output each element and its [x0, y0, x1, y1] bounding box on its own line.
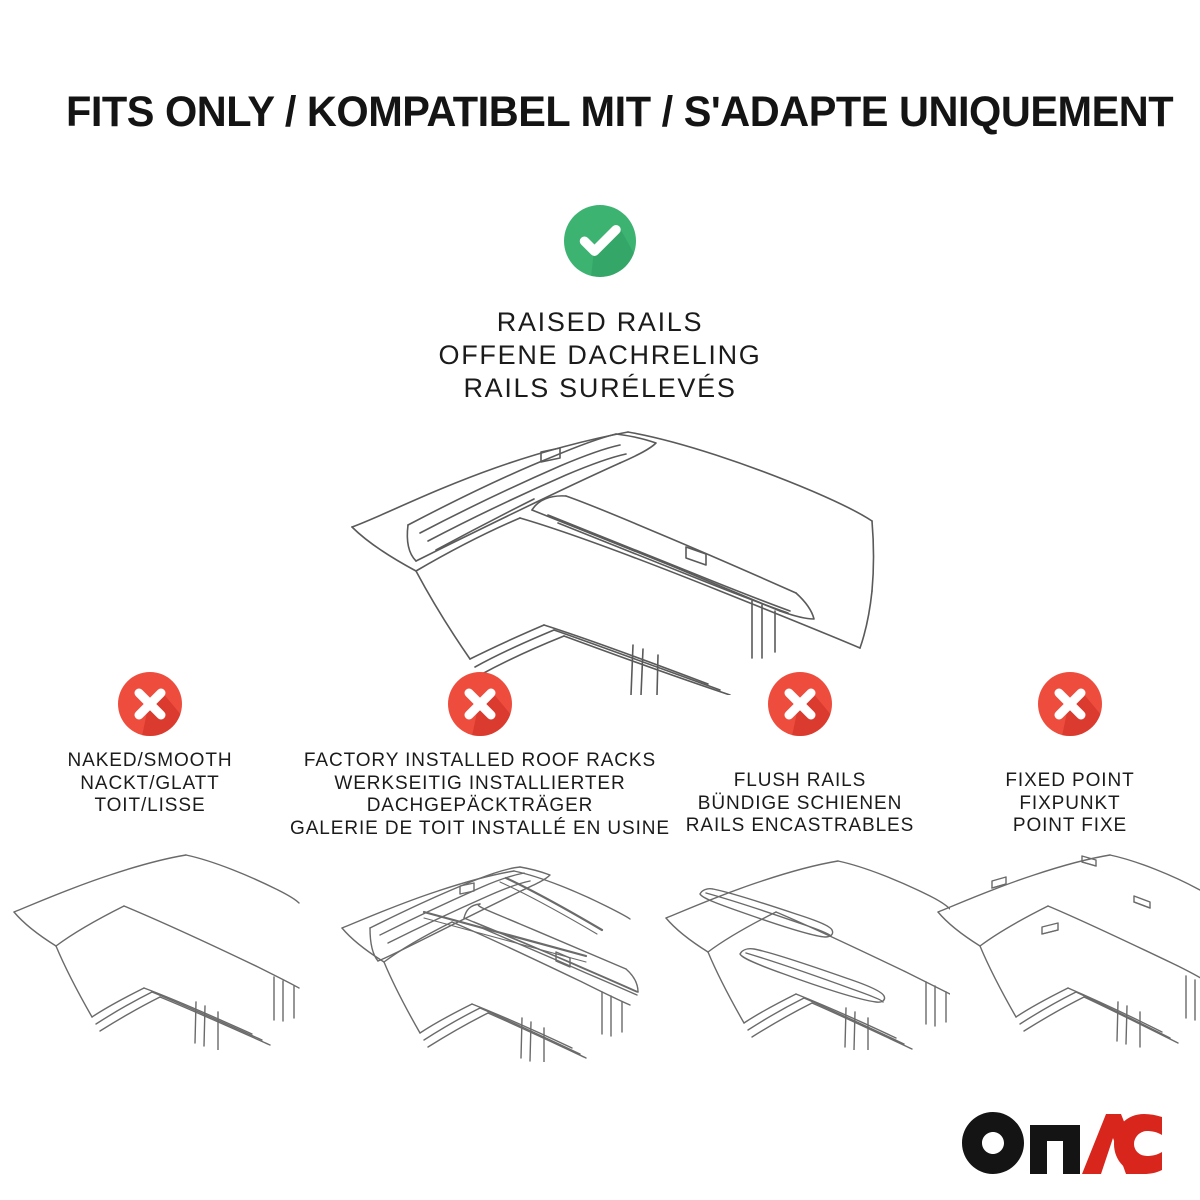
omac-logo — [962, 1112, 1162, 1174]
car-roof-naked-smooth-illustration — [0, 840, 300, 1055]
check-circle-icon — [564, 205, 636, 277]
x-circle-icon — [118, 672, 182, 736]
car-roof-flush-rails-illustration — [650, 850, 950, 1055]
caption-line: WERKSEITIG INSTALLIERTER — [290, 773, 670, 796]
compatible-section: RAISED RAILS OFFENE DACHRELING RAILS SUR… — [0, 205, 1200, 405]
caption-line: GALERIE DE TOIT INSTALLÉ EN USINE — [290, 818, 670, 841]
incompatible-caption: FACTORY INSTALLED ROOF RACKS WERKSEITIG … — [290, 750, 670, 840]
x-circle-icon — [448, 672, 512, 736]
caption-line: DACHGEPÄCKTRÄGER — [290, 795, 670, 818]
caption-line: FIXPUNKT — [1005, 793, 1134, 816]
x-circle-icon — [1038, 672, 1102, 736]
incompatible-section: NAKED/SMOOTH NACKT/GLATT TOIT/LISSE — [0, 672, 1200, 840]
x-circle-icon — [768, 672, 832, 736]
incompatible-item-fixed-point: FIXED POINT FIXPUNKT POINT FIXE — [940, 672, 1200, 838]
incompatible-item-flush-rails: FLUSH RAILS BÜNDIGE SCHIENEN RAILS ENCAS… — [660, 672, 940, 838]
caption-line: RAILS SURÉLEVÉS — [0, 372, 1200, 405]
caption-line: FIXED POINT — [1005, 770, 1134, 793]
car-roof-fixed-point-illustration — [930, 850, 1200, 1055]
incompatible-caption: NAKED/SMOOTH NACKT/GLATT TOIT/LISSE — [68, 750, 233, 818]
car-roof-factory-installed-roof-racks-illustration — [320, 862, 640, 1067]
caption-line: FLUSH RAILS — [686, 770, 914, 793]
incompatible-item-factory-roof-racks: FACTORY INSTALLED ROOF RACKS WERKSEITIG … — [300, 672, 660, 840]
caption-line: RAILS ENCASTRABLES — [686, 815, 914, 838]
caption-line: BÜNDIGE SCHIENEN — [686, 793, 914, 816]
caption-line: NAKED/SMOOTH — [68, 750, 233, 773]
incompatible-item-naked-smooth: NAKED/SMOOTH NACKT/GLATT TOIT/LISSE — [0, 672, 300, 818]
incompatible-caption: FLUSH RAILS BÜNDIGE SCHIENEN RAILS ENCAS… — [686, 770, 914, 838]
caption-line: NACKT/GLATT — [68, 773, 233, 796]
caption-line: TOIT/LISSE — [68, 795, 233, 818]
car-roof-with-raised-rails-illustration — [320, 405, 880, 695]
caption-line: OFFENE DACHRELING — [0, 339, 1200, 372]
caption-line: POINT FIXE — [1005, 815, 1134, 838]
caption-line: RAISED RAILS — [0, 306, 1200, 339]
page-title: FITS ONLY / KOMPATIBEL MIT / S'ADAPTE UN… — [66, 88, 1173, 137]
incompatible-caption: FIXED POINT FIXPUNKT POINT FIXE — [1005, 770, 1134, 838]
compatible-caption: RAISED RAILS OFFENE DACHRELING RAILS SUR… — [0, 306, 1200, 405]
caption-line: FACTORY INSTALLED ROOF RACKS — [290, 750, 670, 773]
